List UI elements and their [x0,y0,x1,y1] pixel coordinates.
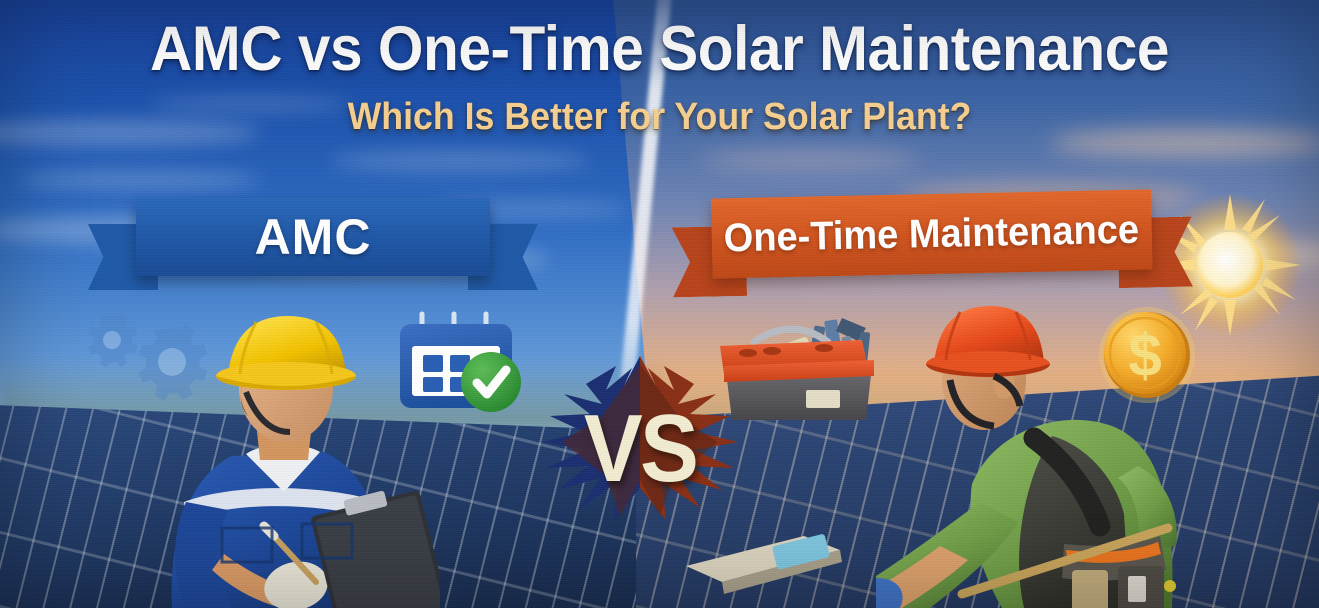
ribbon-body: AMC [136,198,490,276]
technician-cleaning-panel [876,288,1206,608]
cloud-wisp [20,170,260,190]
page-subtitle: Which Is Better for Your Solar Plant? [40,96,1280,139]
page-title: AMC vs One-Time Solar Maintenance [46,16,1273,82]
vs-label: VS [537,356,743,542]
cloud-wisp [330,150,590,172]
ribbon-body: One-Time Maintenance [711,189,1153,278]
amc-ribbon: AMC [88,198,538,290]
technician-with-clipboard [128,296,440,608]
one-time-ribbon: One-Time Maintenance [671,189,1193,300]
headline-block: AMC vs One-Time Solar Maintenance Which … [0,16,1319,139]
one-time-ribbon-label: One-Time Maintenance [724,207,1140,261]
sunset-cloud [700,150,920,170]
amc-ribbon-label: AMC [255,208,372,266]
solar-maintenance-comparison-banner: $ [0,0,1319,608]
vs-badge: VS [528,356,752,547]
